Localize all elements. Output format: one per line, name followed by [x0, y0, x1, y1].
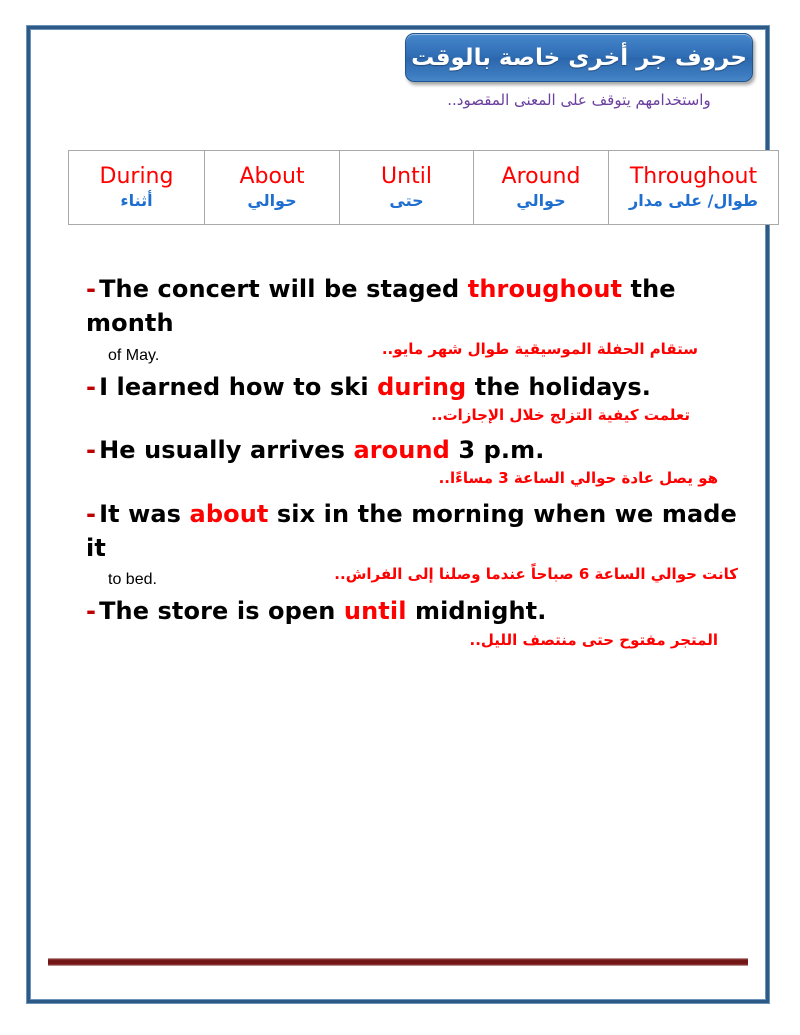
example-keyword: until [344, 597, 407, 625]
example-continuation: of May. [86, 347, 159, 365]
preposition-english: About [209, 165, 335, 190]
preposition-arabic: حوالي [478, 191, 604, 210]
example-english: -The concert will be staged throughout t… [86, 272, 746, 340]
table-cell-during: During أثناء [69, 151, 205, 225]
preposition-english: Around [478, 165, 604, 190]
example-keyword: throughout [468, 275, 622, 303]
preposition-arabic: حوالي [209, 191, 335, 210]
bullet-dash: - [86, 597, 96, 625]
footer-divider-rule [48, 958, 748, 966]
example-english: -The store is open until midnight. [86, 594, 746, 628]
example-item: -The concert will be staged throughout t… [86, 272, 746, 365]
example-keyword: during [377, 373, 466, 401]
preposition-english: During [73, 165, 200, 190]
example-keyword: about [190, 500, 269, 528]
example-text-before: The concert will be staged [99, 275, 468, 303]
bullet-dash: - [86, 275, 96, 303]
example-text-before: He usually arrives [99, 436, 353, 464]
preposition-english: Until [344, 165, 469, 190]
table-cell-around: Around حوالي [474, 151, 609, 225]
example-continuation: to bed. [86, 571, 157, 589]
example-item: -The store is open until midnight. المتج… [86, 594, 746, 650]
preposition-arabic: أثناء [73, 191, 200, 210]
example-item: -He usually arrives around 3 p.m. هو يصل… [86, 433, 746, 489]
page-title: حروف جر أخرى خاصة بالوقت [411, 45, 747, 71]
example-text-before: I learned how to ski [99, 373, 377, 401]
title-banner: حروف جر أخرى خاصة بالوقت [405, 33, 753, 82]
table-cell-about: About حوالي [205, 151, 340, 225]
examples-list: -The concert will be staged throughout t… [86, 272, 746, 655]
example-item: -I learned how to ski during the holiday… [86, 370, 746, 426]
example-arabic: كانت حوالي الساعة 6 صباحاً عندما وصلنا إ… [334, 565, 746, 590]
example-text-after: 3 p.m. [450, 436, 545, 464]
table-row: During أثناء About حوالي Until حتى Aroun… [69, 151, 779, 225]
example-second-line: to bed. كانت حوالي الساعة 6 صباحاً عندما… [86, 565, 746, 590]
bullet-dash: - [86, 500, 96, 528]
example-item: -It was about six in the morning when we… [86, 497, 746, 590]
preposition-arabic: طوال/ على مدار [613, 191, 774, 210]
example-arabic: هو يصل عادة حوالي الساعة 3 مساءًا.. [86, 469, 746, 489]
bullet-dash: - [86, 373, 96, 401]
example-english: -It was about six in the morning when we… [86, 497, 746, 565]
example-text-after: the holidays. [466, 373, 651, 401]
preposition-arabic: حتى [344, 191, 469, 210]
example-arabic: ستقام الحفلة الموسيقية طوال شهر مايو.. [382, 340, 746, 365]
header-subtitle: واستخدامهم يتوقف على المعنى المقصود.. [405, 91, 753, 109]
example-english: -I learned how to ski during the holiday… [86, 370, 746, 404]
bullet-dash: - [86, 436, 96, 464]
header-zone: حروف جر أخرى خاصة بالوقت واستخدامهم يتوق… [405, 33, 765, 138]
example-text-before: The store is open [99, 597, 344, 625]
example-arabic: تعلمت كيفية التزلج خلال الإجازات.. [86, 406, 746, 426]
example-arabic: المتجر مفتوح حتى منتصف الليل.. [86, 631, 746, 651]
example-text-before: It was [99, 500, 189, 528]
example-english: -He usually arrives around 3 p.m. [86, 433, 746, 467]
table-cell-until: Until حتى [340, 151, 474, 225]
table-cell-throughout: Throughout طوال/ على مدار [609, 151, 779, 225]
example-text-after: midnight. [407, 597, 547, 625]
example-keyword: around [353, 436, 449, 464]
page-canvas: حروف جر أخرى خاصة بالوقت واستخدامهم يتوق… [0, 0, 800, 1035]
prepositions-table: During أثناء About حوالي Until حتى Aroun… [68, 150, 779, 225]
example-second-line: of May. ستقام الحفلة الموسيقية طوال شهر … [86, 340, 746, 365]
preposition-english: Throughout [613, 165, 774, 190]
